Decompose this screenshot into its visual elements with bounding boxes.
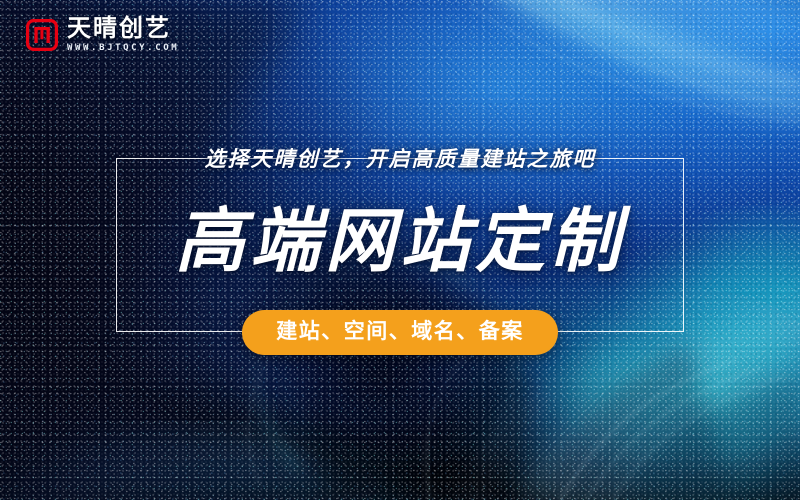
headline-row: 高端网站定制 (0, 206, 800, 276)
logo-company-name: 天晴创艺 (67, 16, 179, 41)
services-pill-button[interactable]: 建站、空间、域名、备案 (242, 310, 558, 355)
tagline-row: 选择天晴创艺，开启高质量建站之旅吧 (0, 143, 800, 173)
tagline-text: 选择天晴创艺，开启高质量建站之旅吧 (189, 143, 612, 173)
brand-logo[interactable]: 天晴创艺 WWW.BJTQCY.COM (26, 16, 179, 53)
promo-banner: 天晴创艺 WWW.BJTQCY.COM 选择天晴创艺，开启高质量建站之旅吧 高端… (0, 0, 800, 500)
logo-website-url: WWW.BJTQCY.COM (67, 44, 179, 53)
pill-button-row: 建站、空间、域名、备案 (0, 310, 800, 355)
bjtqcy-square-mark-icon (26, 19, 58, 51)
headline-text: 高端网站定制 (175, 206, 625, 276)
